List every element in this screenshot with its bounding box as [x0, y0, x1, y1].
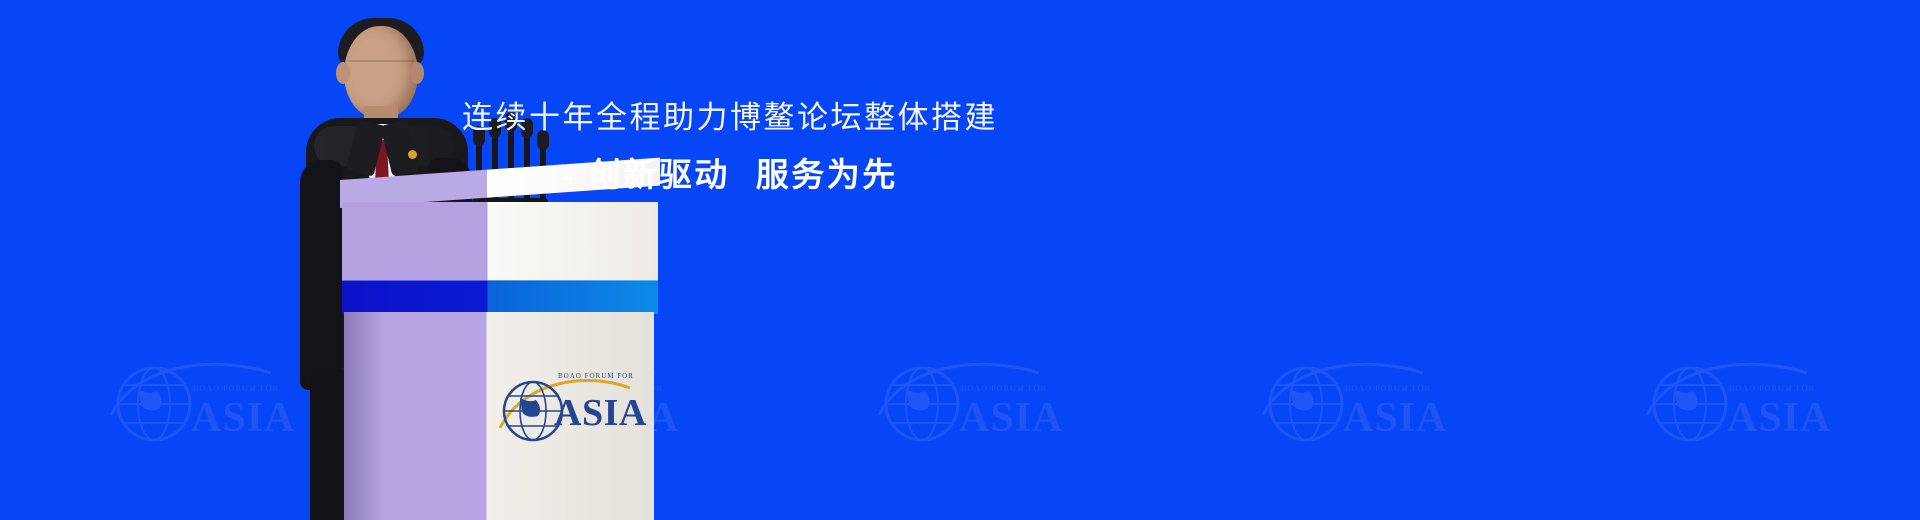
podium-blue-band [342, 280, 658, 314]
watermark-brand-small: BOAO FORUM FOR [961, 384, 1047, 393]
banner-headline: 连续十年全程助力博鳌论坛整体搭建 [0, 98, 1460, 138]
globe-icon [883, 365, 961, 443]
watermark-brand-big: ASIA [191, 397, 295, 439]
watermark-row: BOAO FORUM FOR ASIA BOAO FORUM FOR ASIA [0, 330, 1920, 450]
subheadline-part2: 服务为先 [756, 156, 898, 193]
globe-icon [115, 365, 193, 443]
watermark-brand-big: ASIA [1343, 397, 1447, 439]
globe-icon [1651, 365, 1729, 443]
subheadline-part1: 创新驱动 [588, 156, 730, 193]
swoosh-icon [1259, 353, 1427, 431]
banner-copy: 连续十年全程助力博鳌论坛整体搭建 -创新驱动服务为先 [0, 98, 1920, 197]
globe-icon [1267, 365, 1345, 443]
boao-emblem: BOAO FORUM FOR ASIA [496, 356, 636, 466]
boao-watermark: BOAO FORUM FOR ASIA [1643, 335, 1813, 445]
podium: BOAO FORUM FOR ASIA [340, 180, 660, 520]
emblem-brand-small: BOAO FORUM FOR [558, 372, 634, 380]
swoosh-icon [875, 353, 1043, 431]
banner-subheadline: -创新驱动服务为先 [0, 154, 1460, 197]
podium-upper-panel [342, 202, 658, 284]
speaker-podium-photo: BOAO FORUM FOR ASIA [300, 0, 660, 520]
boao-watermark: BOAO FORUM FOR ASIA [1259, 335, 1429, 445]
swoosh-icon [1643, 353, 1811, 431]
watermark-brand-big: ASIA [959, 397, 1063, 439]
swoosh-icon [107, 353, 275, 431]
boao-watermark: BOAO FORUM FOR ASIA [875, 335, 1045, 445]
watermark-brand-small: BOAO FORUM FOR [1729, 384, 1815, 393]
speaker-brow [348, 60, 414, 75]
boao-watermark: BOAO FORUM FOR ASIA [107, 335, 277, 445]
watermark-brand-small: BOAO FORUM FOR [1345, 384, 1431, 393]
watermark-brand-small: BOAO FORUM FOR [193, 384, 279, 393]
hero-banner: BOAO FORUM FOR ASIA BOAO FORUM FOR ASIA [0, 0, 1920, 520]
emblem-brand-big: ASIA [554, 394, 647, 432]
subheadline-dash: - [562, 156, 576, 193]
podium-shadow [344, 312, 384, 520]
watermark-brand-big: ASIA [1727, 397, 1831, 439]
